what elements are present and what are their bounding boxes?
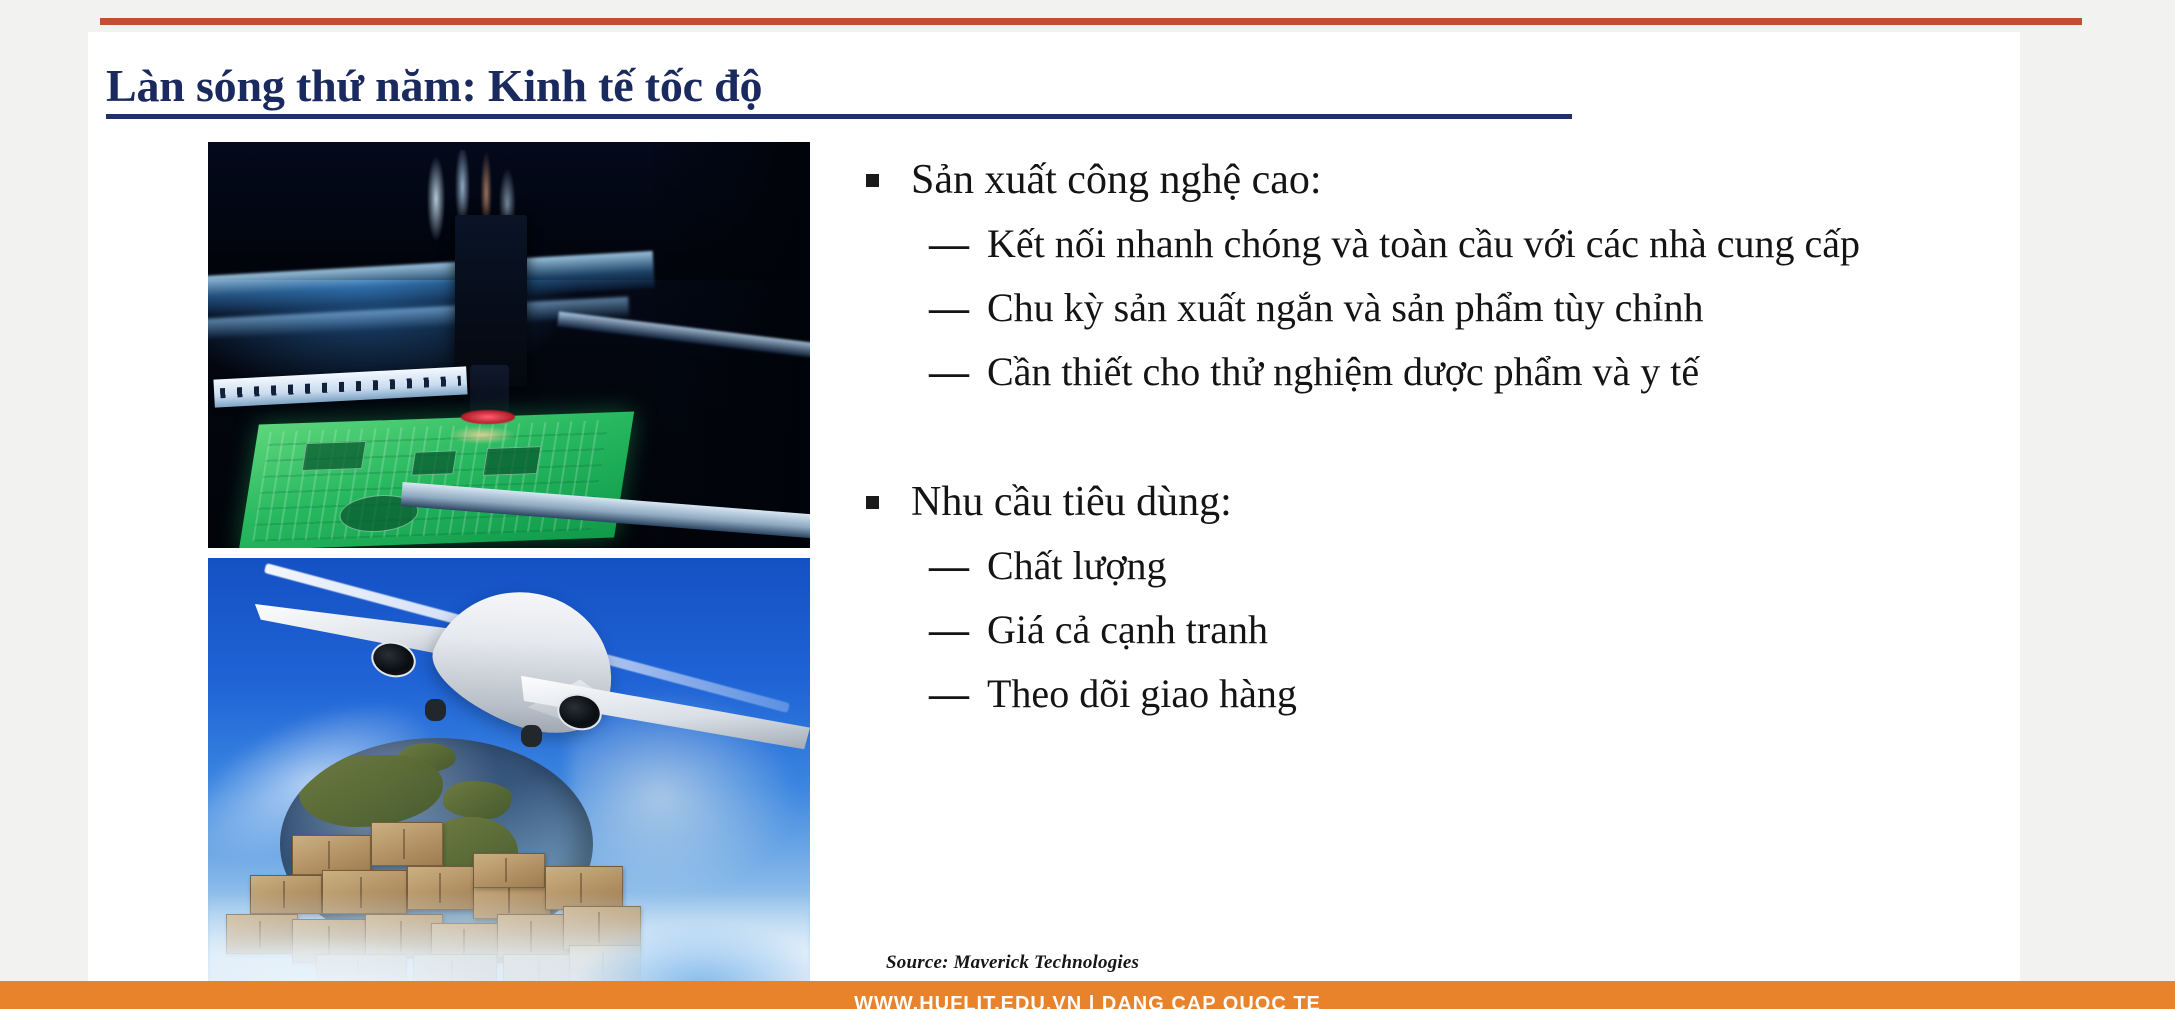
- top-accent-rule: [100, 18, 2082, 25]
- sub-bullet-text: Chất lượng: [987, 538, 2018, 594]
- sub-bullet-item: — Chu kỳ sản xuất ngắn và sản phẩm tùy c…: [929, 280, 2018, 336]
- bullet-heading-text: Sản xuất công nghệ cao:: [911, 152, 1322, 208]
- bullet-content: Sản xuất công nghệ cao: — Kết nối nhanh …: [866, 152, 2018, 722]
- sub-bullet-item: — Theo dõi giao hàng: [929, 666, 2018, 722]
- square-bullet-icon: [866, 496, 879, 509]
- group-spacer: [866, 400, 2018, 474]
- sub-bullet-text: Chu kỳ sản xuất ngắn và sản phẩm tùy chỉ…: [987, 280, 2018, 336]
- image-column: [208, 142, 810, 998]
- page-title-text: Làn sóng thứ năm: Kinh tế tốc độ: [106, 60, 1596, 112]
- sub-bullet-text: Cần thiết cho thử nghiệm dược phẩm và y …: [987, 344, 2018, 400]
- em-dash-bullet-icon: —: [929, 538, 969, 594]
- em-dash-bullet-icon: —: [929, 602, 969, 658]
- sub-bullet-text: Giá cả cạnh tranh: [987, 602, 2018, 658]
- sub-bullet-text: Theo dõi giao hàng: [987, 666, 2018, 722]
- footer-bar: WWW.HUFLIT.EDU.VN | DANG CAP QUOC TE: [0, 981, 2175, 1009]
- slide-root: Làn sóng thứ năm: Kinh tế tốc độ: [0, 0, 2175, 1009]
- square-bullet-icon: [866, 174, 879, 187]
- sub-bullet-item: — Cần thiết cho thử nghiệm dược phẩm và …: [929, 344, 2018, 400]
- em-dash-bullet-icon: —: [929, 216, 969, 272]
- bullet-group-heading: Nhu cầu tiêu dùng:: [866, 474, 2018, 530]
- bullet-heading-text: Nhu cầu tiêu dùng:: [911, 474, 1232, 530]
- sub-bullet-text: Kết nối nhanh chóng và toàn cầu với các …: [987, 216, 2018, 272]
- sub-bullet-item: — Giá cả cạnh tranh: [929, 602, 2018, 658]
- page-title: Làn sóng thứ năm: Kinh tế tốc độ: [106, 60, 1596, 119]
- em-dash-bullet-icon: —: [929, 280, 969, 336]
- bullet-group-heading: Sản xuất công nghệ cao:: [866, 152, 2018, 208]
- source-caption: Source: Maverick Technologies: [886, 952, 1139, 974]
- em-dash-bullet-icon: —: [929, 666, 969, 722]
- footer-text: WWW.HUFLIT.EDU.VN | DANG CAP QUOC TE: [0, 993, 2175, 1009]
- sub-bullet-item: — Chất lượng: [929, 538, 2018, 594]
- title-underline-rule: [106, 114, 1572, 119]
- high-tech-pcb-assembly-photo: [208, 142, 810, 548]
- sub-bullet-item: — Kết nối nhanh chóng và toàn cầu với cá…: [929, 216, 2018, 272]
- air-cargo-globe-photo: [208, 558, 810, 998]
- em-dash-bullet-icon: —: [929, 344, 969, 400]
